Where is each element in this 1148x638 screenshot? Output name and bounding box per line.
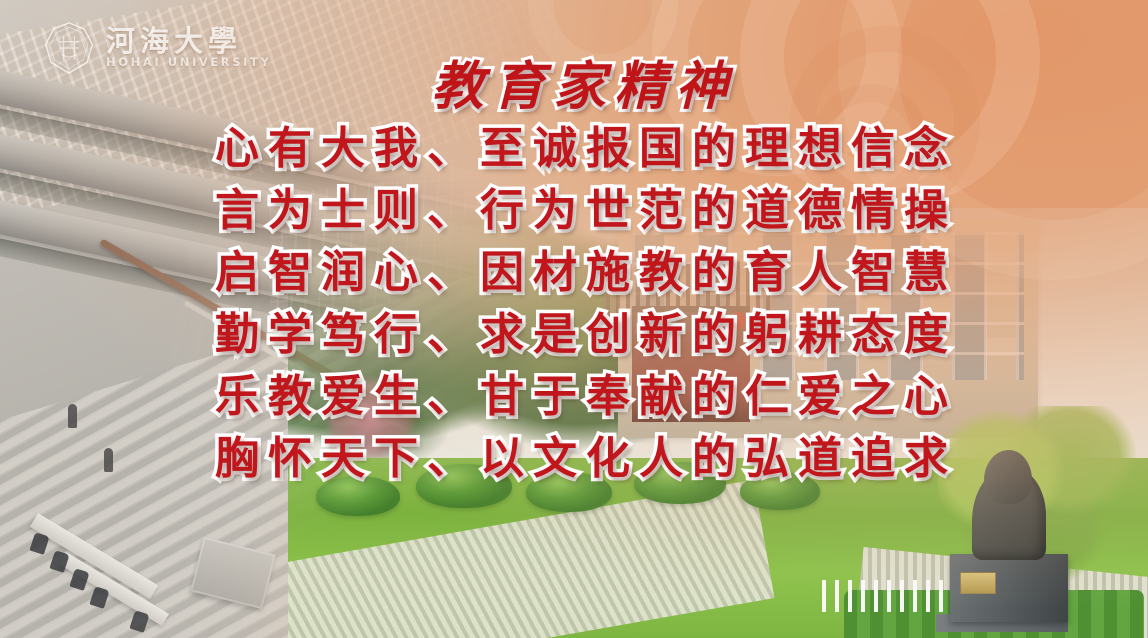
logo-name-en: HOHAI UNIVERSITY (106, 57, 271, 69)
logo-name-cn: 河海大學 (106, 27, 271, 56)
background-warm-overlay (0, 0, 1148, 638)
hohai-seal-icon (42, 20, 96, 76)
university-logo: 河海大學 HOHAI UNIVERSITY (42, 20, 271, 76)
poster-canvas: 河海大學 HOHAI UNIVERSITY 教育家精神 心有大我、至诚报国的理想… (0, 0, 1148, 638)
logo-text-block: 河海大學 HOHAI UNIVERSITY (106, 27, 271, 69)
